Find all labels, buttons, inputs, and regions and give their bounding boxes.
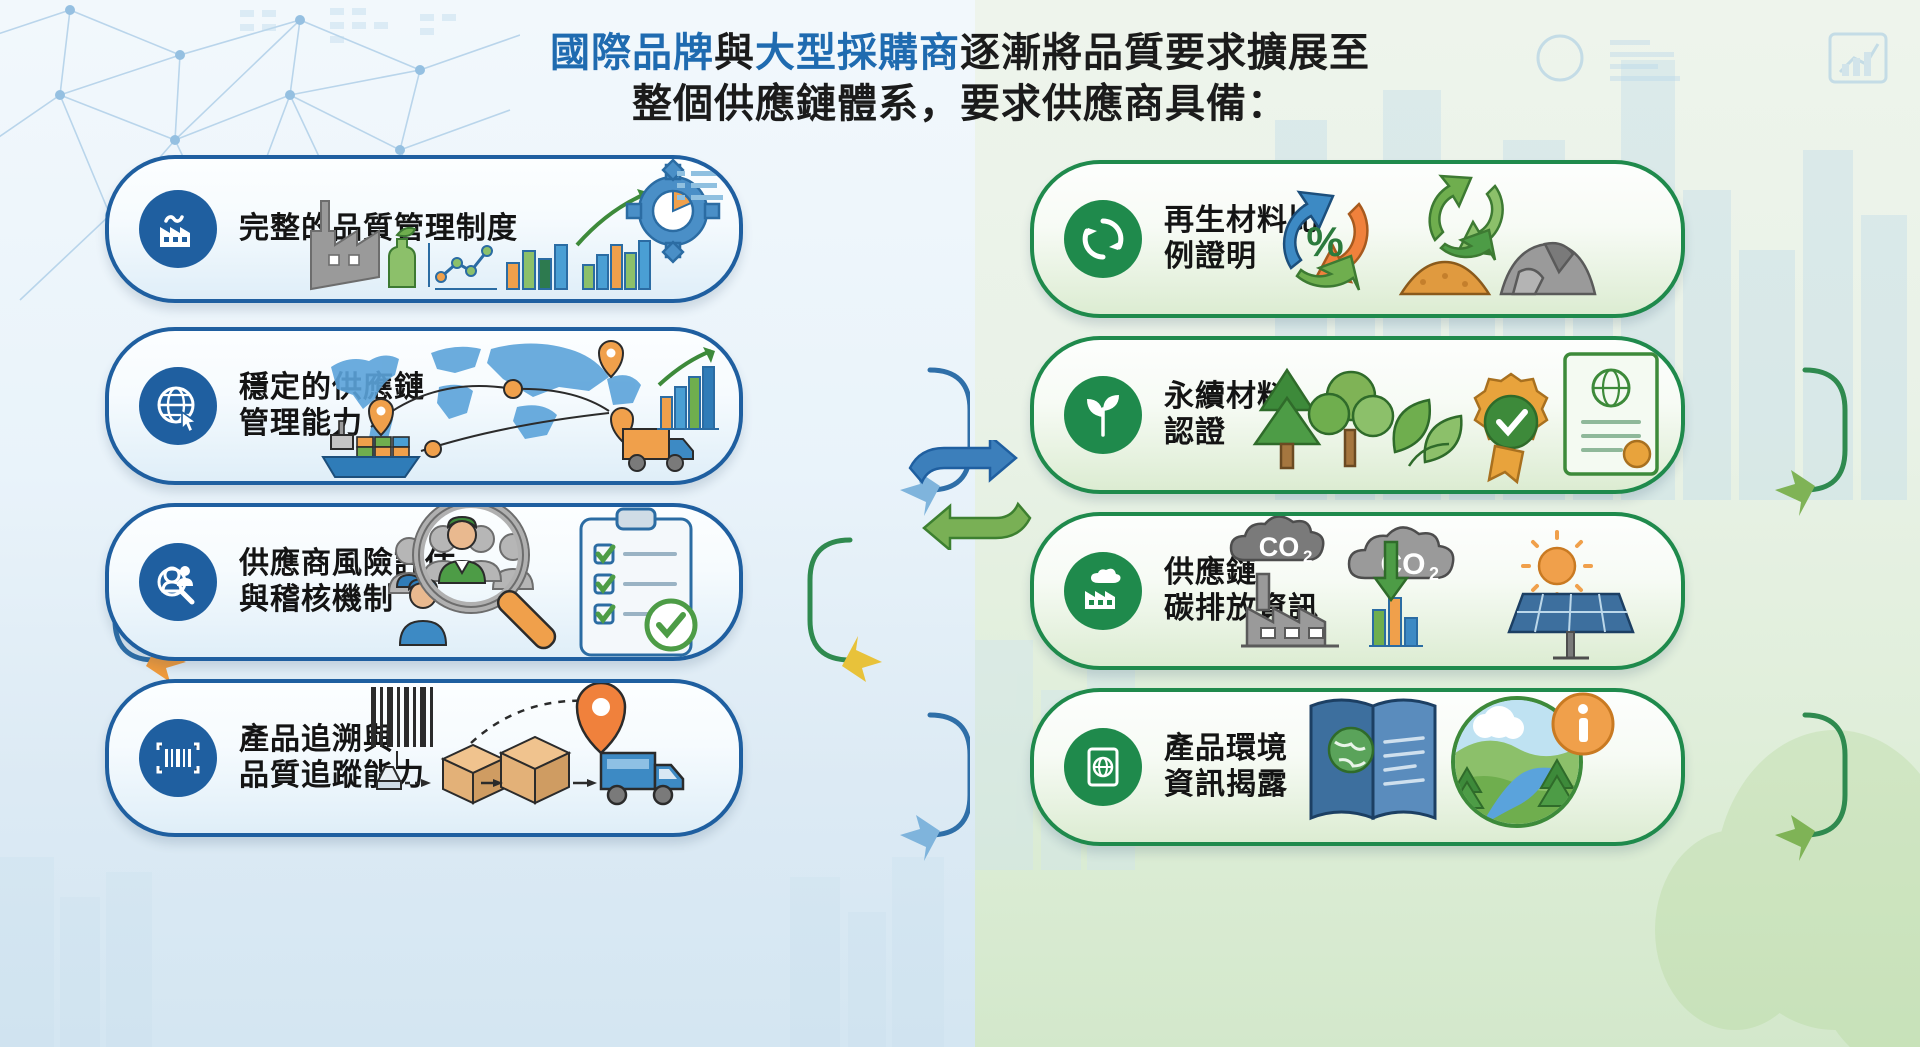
globe-cursor-icon <box>139 367 217 445</box>
card-sustainable-cert[interactable]: 永續材料 認證 <box>1030 336 1685 494</box>
card-label: 穩定的供應鏈 管理能力 <box>239 370 425 442</box>
recycle-icon <box>1064 200 1142 278</box>
card-carbon-data[interactable]: 供應鏈 碳排放資訊 CO 2 CO 2 <box>1030 512 1685 670</box>
leaf-icon <box>1064 376 1142 454</box>
card-supplier-risk[interactable]: 供應商風險評估 與稽核機制 <box>105 503 743 661</box>
co2-label-right: CO <box>1381 548 1426 581</box>
infographic-canvas: 國際品牌與大型採購商逐漸將品質要求擴展至 整個供應鏈體系，要求供應商具備： <box>0 0 1920 1047</box>
title-seg-and: 與 <box>714 31 755 75</box>
title-seg-brands: 國際品牌 <box>550 31 714 75</box>
factory-smoke-icon <box>1064 552 1142 630</box>
title-seg-rest: 逐漸將品質要求擴展至 <box>960 31 1370 75</box>
co2-sub-right: 2 <box>1429 564 1439 584</box>
factory-icon <box>139 190 217 268</box>
card-recycled-ratio[interactable]: 再生材料比 例證明 % <box>1030 160 1685 318</box>
card-quality-system[interactable]: 完整的品質管理制度 <box>105 155 743 303</box>
main-title: 國際品牌與大型採購商逐漸將品質要求擴展至 整個供應鏈體系，要求供應商具備： <box>0 28 1920 130</box>
card-label: 供應商風險評估 與稽核機制 <box>239 546 456 618</box>
card-label: 再生材料比 例證明 <box>1164 203 1319 275</box>
list-lines-icon <box>673 165 733 221</box>
card-label: 供應鏈 碳排放資訊 <box>1164 555 1319 627</box>
card-art-recycle-material: % <box>1263 164 1663 314</box>
title-line-1: 國際品牌與大型採購商逐漸將品質要求擴展至 <box>0 28 1920 79</box>
people-search-icon <box>139 543 217 621</box>
card-traceability[interactable]: 產品追溯與 品質追蹤能力 <box>105 679 743 837</box>
card-label: 產品追溯與 品質追蹤能力 <box>239 722 425 794</box>
card-env-disclosure[interactable]: 產品環境 資訊揭露 <box>1030 688 1685 846</box>
card-art-disclosure <box>1283 692 1663 842</box>
barcode-icon <box>139 719 217 797</box>
title-seg-buyers: 大型採購商 <box>755 31 960 75</box>
document-globe-icon <box>1064 728 1142 806</box>
card-label: 永續材料 認證 <box>1164 379 1288 451</box>
exchange-arrows-icon <box>900 440 1040 550</box>
card-supply-chain[interactable]: 穩定的供應鏈 管理能力 <box>105 327 743 485</box>
card-art-certification <box>1243 340 1663 490</box>
title-line-2: 整個供應鏈體系，要求供應商具備： <box>0 79 1920 130</box>
card-label: 產品環境 資訊揭露 <box>1164 731 1288 803</box>
card-label: 完整的品質管理制度 <box>239 211 518 247</box>
